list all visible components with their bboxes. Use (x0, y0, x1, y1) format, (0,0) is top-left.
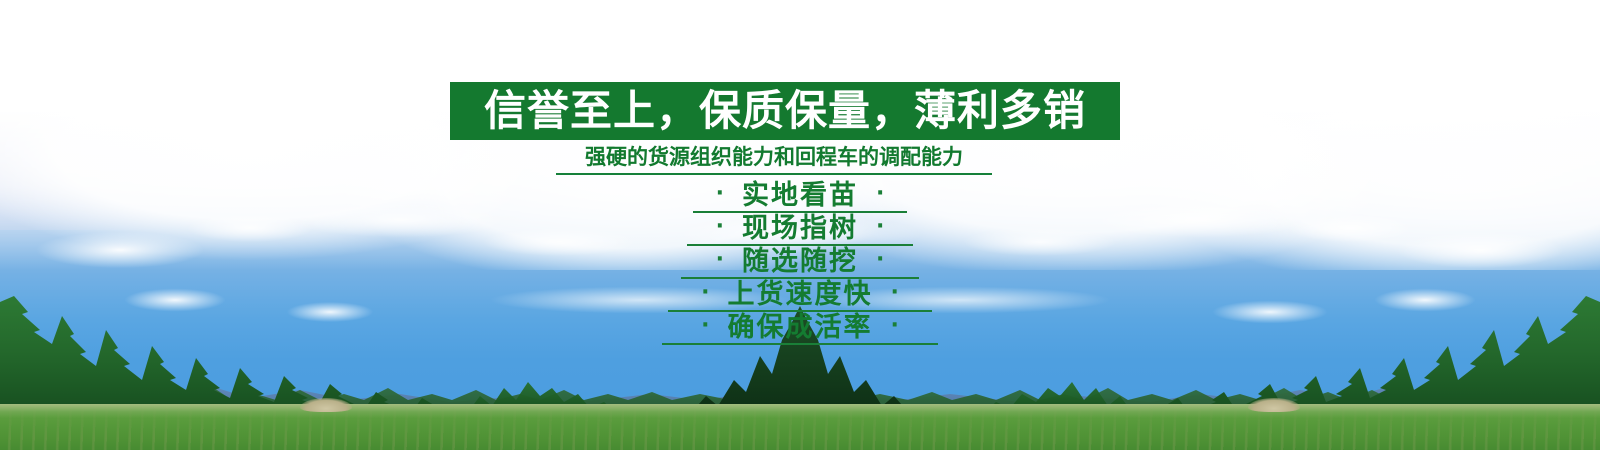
feature-row: · 随选随挖 · (681, 246, 919, 279)
bullet-dot-right: · (876, 216, 884, 238)
banner-title: 信誉至上，保质保量，薄利多销 (484, 90, 1086, 132)
promo-banner: 信誉至上，保质保量，薄利多销 强硬的货源组织能力和回程车的调配能力 · 实地看苗… (0, 0, 1600, 450)
banner-subtitle: 强硬的货源组织能力和回程车的调配能力 (556, 146, 992, 175)
bullet-dot-left: · (716, 249, 724, 271)
bullet-dot-left: · (716, 183, 724, 205)
bullet-dot-left: · (701, 282, 709, 304)
feature-label: 确保成活率 (728, 314, 873, 341)
feature-row: · 确保成活率 · (662, 312, 938, 345)
bullet-dot-left: · (716, 216, 724, 238)
feature-row: · 实地看苗 · (693, 180, 907, 213)
feature-label: 上货速度快 (728, 281, 873, 308)
bullet-dot-right: · (891, 282, 899, 304)
feature-label: 实地看苗 (742, 182, 858, 209)
bullet-dot-left: · (701, 315, 709, 337)
feature-label: 随选随挖 (742, 248, 858, 275)
bullet-dot-right: · (876, 249, 884, 271)
feature-row: · 现场指树 · (687, 213, 913, 246)
banner-content: 信誉至上，保质保量，薄利多销 强硬的货源组织能力和回程车的调配能力 · 实地看苗… (0, 0, 1600, 450)
bullet-dot-right: · (891, 315, 899, 337)
feature-row: · 上货速度快 · (668, 279, 932, 312)
feature-label: 现场指树 (742, 215, 858, 242)
title-band: 信誉至上，保质保量，薄利多销 (450, 82, 1120, 140)
bullet-dot-right: · (876, 183, 884, 205)
feature-list: · 实地看苗 · · 现场指树 · · 随选随挖 · · 上货速度快 · · (0, 180, 1600, 345)
